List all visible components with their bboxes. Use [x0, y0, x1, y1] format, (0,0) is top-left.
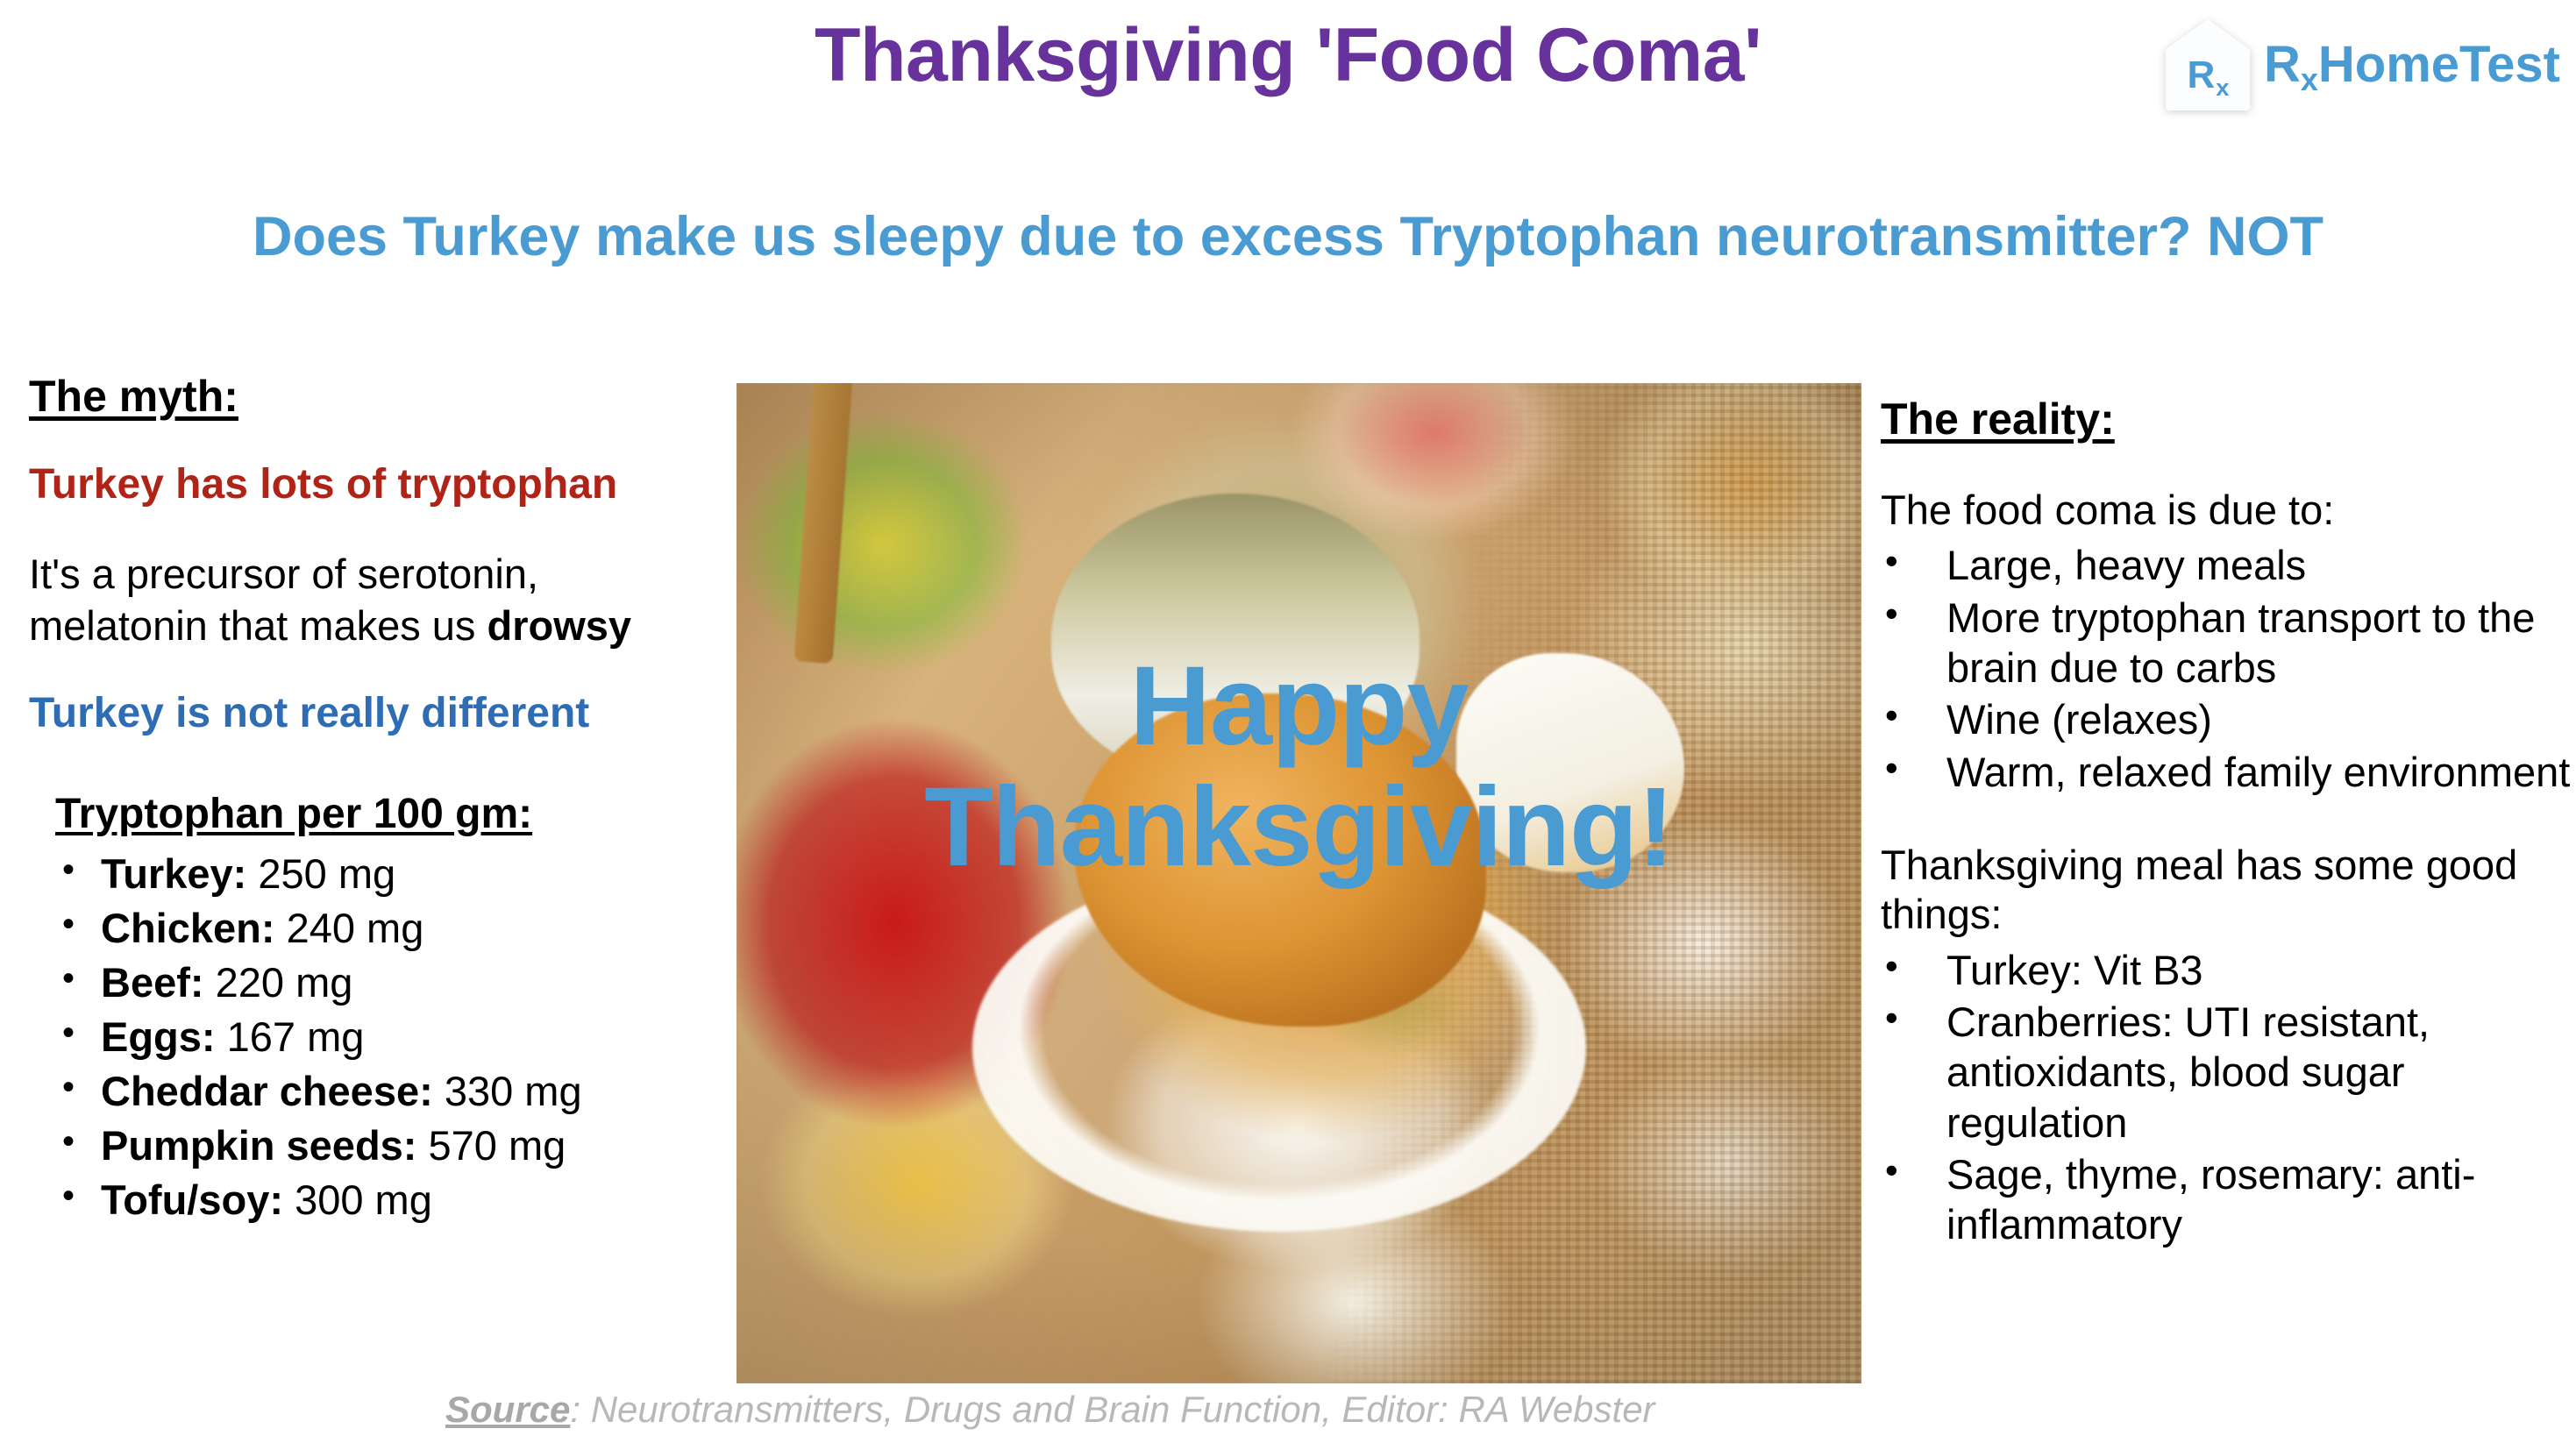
food-value: 240 mg [287, 905, 424, 951]
list-item: Cranberries: UTI resistant, antioxidants… [1881, 997, 2576, 1148]
reality-heading: The reality: [1881, 394, 2576, 444]
food-label: Turkey: [101, 850, 246, 897]
thanksgiving-dinner-photo: Happy Thanksgiving! [737, 383, 1861, 1383]
list-item: Turkey: 250 mg [55, 847, 722, 901]
photo-vignette [737, 383, 1861, 1383]
myth-paragraph: It's a precursor of serotonin, melatonin… [29, 549, 722, 652]
list-item: Warm, relaxed family environment [1881, 747, 2576, 797]
food-label: Beef: [101, 959, 204, 1006]
reality-column: The reality: The food coma is due to: La… [1881, 394, 2576, 1294]
brand-logo: Rx RxHomeTest [2166, 19, 2560, 110]
food-value: 250 mg [258, 850, 395, 897]
rx-mark-x: x [2216, 74, 2229, 101]
myth-claim-red: Turkey has lots of tryptophan [29, 461, 722, 508]
myth-paragraph-emphasis: drowsy [487, 602, 632, 649]
source-citation: Source: Neurotransmitters, Drugs and Bra… [445, 1389, 1655, 1431]
list-item: Large, heavy meals [1881, 540, 2576, 590]
food-label: Eggs: [101, 1013, 216, 1060]
list-item: Sage, thyme, rosemary: anti-inflammatory [1881, 1149, 2576, 1250]
tryptophan-list: Turkey: 250 mg Chicken: 240 mg Beef: 220… [55, 847, 722, 1227]
brand-wordmark: RxHomeTest [2264, 39, 2560, 90]
source-text: : Neurotransmitters, Drugs and Brain Fun… [570, 1389, 1654, 1430]
list-item: Eggs: 167 mg [55, 1010, 722, 1064]
food-label: Pumpkin seeds: [101, 1122, 416, 1169]
good-things-lead: Thanksgiving meal has some good things: [1881, 841, 2576, 940]
food-coma-lead: The food coma is due to: [1881, 486, 2576, 535]
list-item: Beef: 220 mg [55, 956, 722, 1010]
food-label: Cheddar cheese: [101, 1068, 433, 1114]
food-value: 330 mg [445, 1068, 582, 1114]
food-label: Tofu/soy: [101, 1176, 283, 1223]
list-item: Tofu/soy: 300 mg [55, 1173, 722, 1227]
myth-heading: The myth: [29, 372, 722, 421]
food-coma-causes-list: Large, heavy meals More tryptophan trans… [1881, 540, 2576, 797]
list-item: Wine (relaxes) [1881, 694, 2576, 744]
list-item: Cheddar cheese: 330 mg [55, 1064, 722, 1119]
rx-mark-r: R [2188, 53, 2216, 96]
myth-claim-blue: Turkey is not really different [29, 690, 722, 737]
myth-paragraph-text: It's a precursor of serotonin, melatonin… [29, 551, 538, 649]
wordmark-r: R [2264, 36, 2301, 93]
list-item: Pumpkin seeds: 570 mg [55, 1119, 722, 1173]
source-label: Source [445, 1389, 570, 1430]
rx-house-icon: Rx [2166, 19, 2250, 110]
list-item: Turkey: Vit B3 [1881, 945, 2576, 995]
food-value: 220 mg [216, 959, 353, 1006]
list-item: More tryptophan transport to the brain d… [1881, 593, 2576, 693]
myth-column: The myth: Turkey has lots of tryptophan … [29, 372, 722, 1227]
list-item: Chicken: 240 mg [55, 901, 722, 956]
food-value: 570 mg [429, 1122, 566, 1169]
tryptophan-list-heading: Tryptophan per 100 gm: [55, 792, 722, 838]
page-subtitle: Does Turkey make us sleepy due to excess… [0, 207, 2576, 267]
tryptophan-block: Tryptophan per 100 gm: Turkey: 250 mg Ch… [55, 792, 722, 1227]
food-value: 300 mg [295, 1176, 432, 1223]
wordmark-hometest: HomeTest [2318, 36, 2560, 93]
rx-mark-text: Rx [2166, 56, 2250, 95]
good-things-list: Turkey: Vit B3 Cranberries: UTI resistan… [1881, 945, 2576, 1250]
food-value: 167 mg [227, 1013, 365, 1060]
food-label: Chicken: [101, 905, 275, 951]
wordmark-x: x [2301, 61, 2318, 97]
